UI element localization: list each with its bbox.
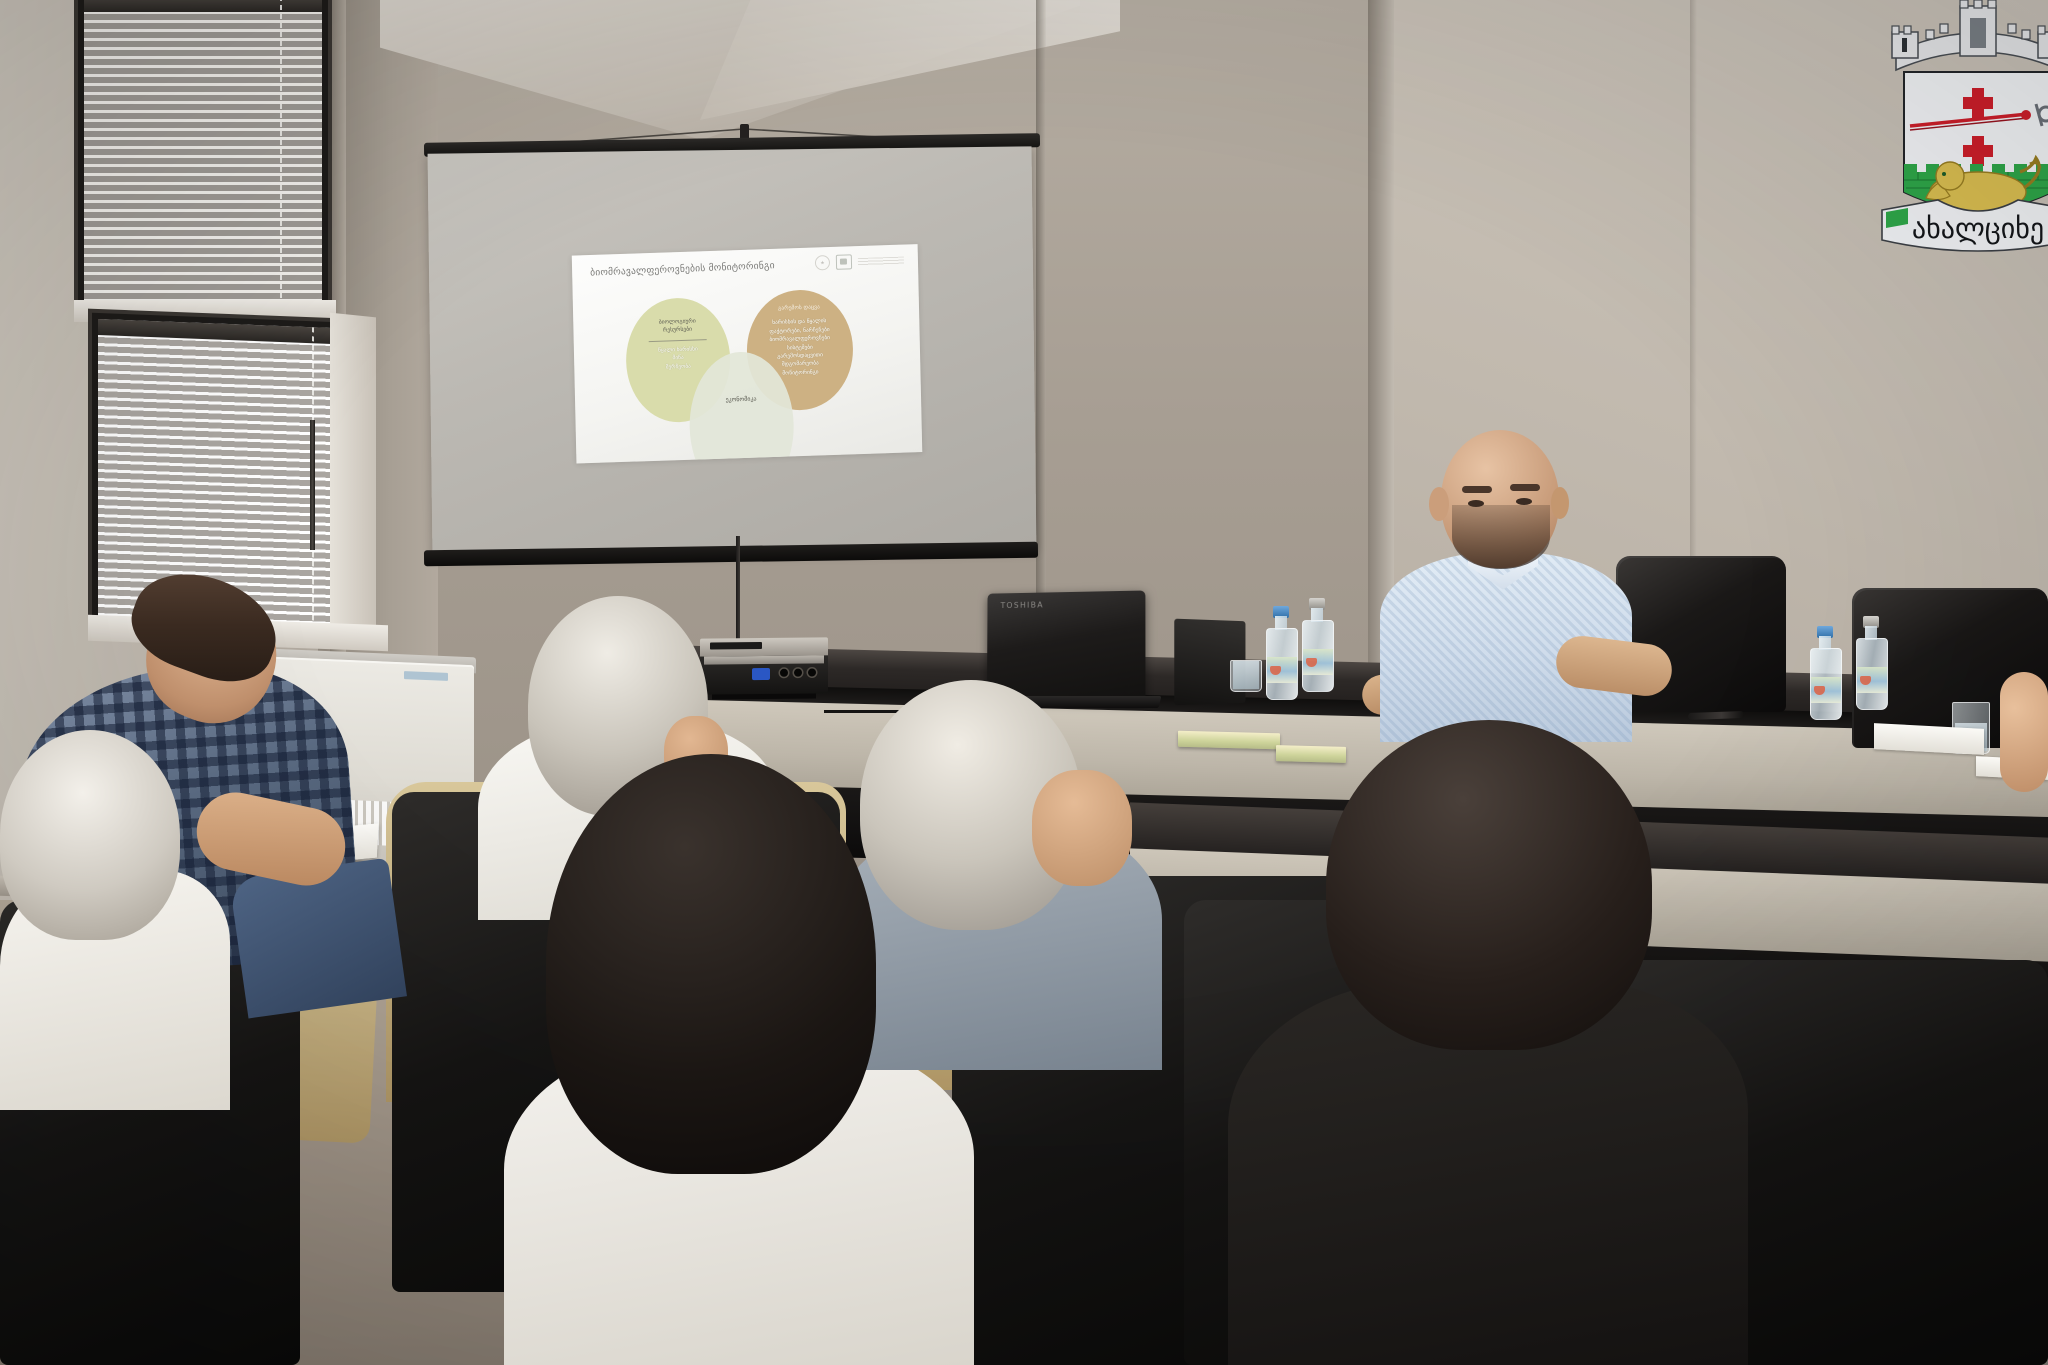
bottle-label	[1303, 649, 1333, 675]
water-bottle-1[interactable]	[1266, 628, 1298, 700]
bottle-body	[1856, 638, 1888, 710]
bottle-body	[1302, 620, 1334, 692]
attendee-grey-right-hand	[1032, 770, 1132, 886]
water-bottle-4[interactable]	[1856, 638, 1888, 710]
blind-headrail	[84, 0, 322, 12]
projector-foot	[712, 693, 816, 699]
circle-green-divider	[649, 339, 707, 342]
projector-port-b[interactable]	[794, 669, 802, 677]
laptop-lid: TOSHIBA	[987, 590, 1146, 701]
slide-logo-group: ★	[815, 253, 904, 271]
wordmark-lines-icon	[858, 256, 904, 266]
projector-stand-rod	[736, 536, 740, 642]
bottle-label	[1811, 677, 1841, 703]
leaf-square-icon	[836, 254, 852, 270]
window-jamb	[330, 313, 376, 648]
projector-port-a[interactable]	[780, 669, 788, 677]
presenter-beard	[1452, 505, 1550, 569]
window-upper	[78, 0, 328, 310]
blind-cord[interactable]	[280, 0, 282, 304]
attendee-white-hair-head	[0, 730, 180, 940]
mural-crown-icon	[1892, 0, 2048, 70]
screen-stand-pole	[310, 420, 315, 550]
projector-port-c[interactable]	[808, 668, 816, 676]
presenter-eye-right	[1516, 498, 1532, 505]
bottle-label	[1267, 657, 1297, 683]
screen-surface: ბიომრავალფეროვნების მონიტორინგი ★ ბიოლოგ…	[428, 146, 1037, 557]
circle-green-heading: ბიოლოგიური რესურსები	[659, 317, 696, 335]
blind-headrail	[98, 319, 358, 345]
presenter-ear-left	[1429, 487, 1449, 521]
attendee-far-right-arm	[2000, 672, 2048, 792]
projector-lens-slot	[710, 642, 762, 650]
projection-screen: ბიომრავალფეროვნების მონიტორინგი ★ ბიოლოგ…	[424, 138, 1040, 568]
projector-top-shell	[700, 637, 828, 656]
booklets-stack-2[interactable]	[1276, 745, 1346, 763]
booklets-stack-1[interactable]	[1178, 731, 1280, 750]
circle-pale-label: ეკონომიკა	[725, 396, 756, 404]
window-blinds-upper[interactable]	[84, 0, 322, 304]
projector	[700, 637, 828, 700]
circle-tan-heading: გარემოს დაცვა	[778, 303, 820, 313]
attendee-dark-curly-head	[546, 754, 876, 1174]
projector-vga-port[interactable]	[752, 668, 770, 680]
projector-trim-band	[704, 655, 824, 664]
water-bottle-2[interactable]	[1302, 620, 1334, 692]
laptop-brand-label: TOSHIBA	[1001, 600, 1044, 610]
bottle-body	[1266, 628, 1298, 700]
projected-slide: ბიომრავალფეროვნების მონიტორინგი ★ ბიოლოგ…	[572, 244, 923, 463]
circle-green-body: წყალი ხარისხი მიწა მერჩეობა	[658, 345, 698, 371]
org-seal-icon: ★	[815, 255, 830, 270]
presenter-brow-left	[1462, 486, 1492, 493]
bottle-body	[1810, 648, 1842, 720]
presenter-eye-left	[1468, 500, 1484, 507]
presenter-brow-right	[1510, 484, 1540, 491]
banner-text: ახალციხე	[1912, 212, 2044, 245]
water-bottle-3[interactable]	[1810, 648, 1842, 720]
water-glass-center[interactable]	[1230, 660, 1262, 692]
coat-of-arms-akhaltsikhe: ახალციხე	[1878, 0, 2048, 258]
attendee-dark-hair-right-head	[1326, 720, 1652, 1050]
circle-tan-body: ხარისხის და წყალის ფაქტორები, ნარჩენები …	[769, 317, 831, 378]
conference-room-photo: ბიომრავალფეროვნების მონიტორინგი ★ ბიოლოგ…	[0, 0, 2048, 1365]
presenter-ear-right	[1551, 487, 1569, 519]
bottle-label	[1857, 667, 1887, 693]
slide-title: ბიომრავალფეროვნების მონიტორინგი	[590, 260, 775, 278]
